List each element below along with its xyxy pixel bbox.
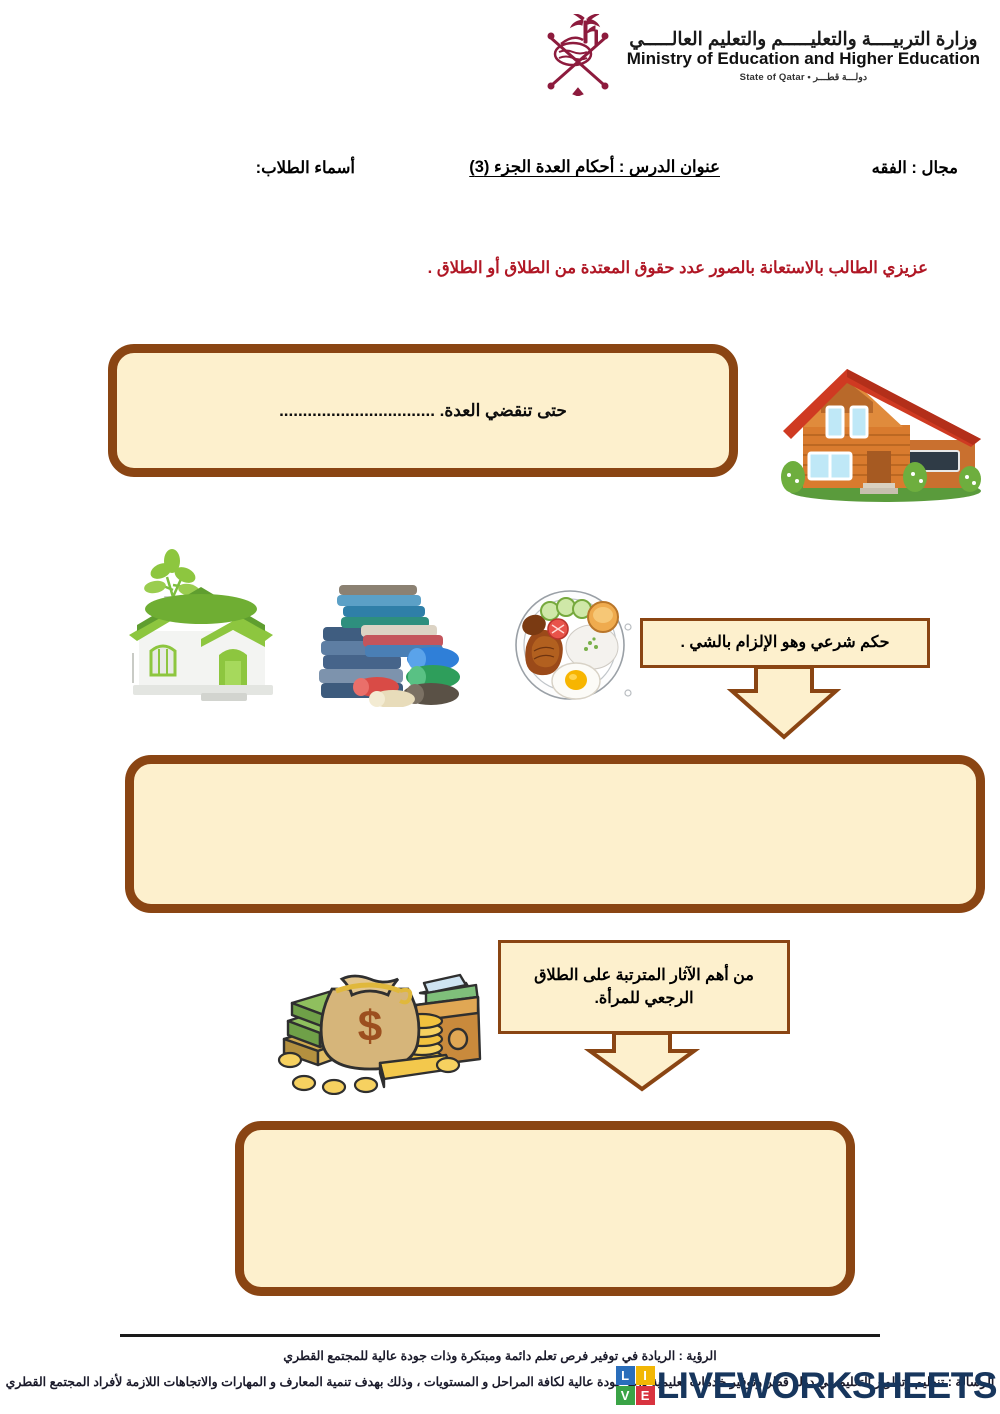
watermark-tile-l: L bbox=[616, 1366, 635, 1385]
food-plate-image bbox=[500, 585, 640, 705]
footer-vision-text: الرؤية : الريادة في توفير فرص تعلم دائمة… bbox=[0, 1348, 1000, 1363]
callout-effects-body: من أهم الآثار المترتبة على الطلاق الرجعي… bbox=[498, 940, 790, 1034]
watermark-wordmark: LIVEWORKSHEETS bbox=[657, 1367, 997, 1404]
eco-green-house-image bbox=[115, 535, 295, 710]
liveworksheets-watermark: LIVEWORKSHEETS L I V E bbox=[616, 1366, 997, 1405]
lesson-meta-row: مجال : الفقه عنوان الدرس : أحكام العدة ا… bbox=[0, 155, 1000, 187]
qatar-emblem-icon bbox=[543, 14, 613, 96]
footer-divider bbox=[120, 1334, 880, 1337]
answer-box-bottom[interactable] bbox=[235, 1121, 855, 1296]
callout-effects: من أهم الآثار المترتبة على الطلاق الرجعي… bbox=[498, 940, 790, 1090]
student-names-field: أسماء الطلاب: bbox=[256, 158, 355, 178]
watermark-tiles: L I V E bbox=[616, 1366, 655, 1405]
watermark-tile-i: I bbox=[636, 1366, 655, 1385]
watermark-tile-v: V bbox=[616, 1386, 635, 1405]
answer-box-middle[interactable] bbox=[125, 755, 985, 913]
lesson-title-field: عنوان الدرس : أحكام العدة الجزء (3) bbox=[469, 157, 720, 177]
down-arrow-icon bbox=[582, 1031, 702, 1093]
answer-box-top[interactable]: حتى تنقضي العدة. .......................… bbox=[108, 344, 738, 477]
subject-field: مجال : الفقه bbox=[872, 158, 958, 178]
ministry-name-english: Ministry of Education and Higher Educati… bbox=[627, 49, 980, 69]
instruction-text: عزيزي الطالب بالاستعانة بالصور عدد حقوق … bbox=[68, 258, 928, 278]
callout-definition: حكم شرعي وهو الإلزام بالشي . bbox=[640, 618, 930, 738]
wooden-house-image bbox=[775, 355, 990, 503]
state-label: دولـــة قطـــر • State of Qatar bbox=[627, 72, 980, 83]
ministry-wordmark: وزارة التربيــــة والتعليـــــم والتعليم… bbox=[627, 27, 980, 84]
svg-text:$: $ bbox=[358, 1002, 382, 1051]
ministry-header: وزارة التربيــــة والتعليـــــم والتعليم… bbox=[543, 14, 980, 96]
money-bag-image: $ bbox=[270, 935, 500, 1095]
callout-effects-text: من أهم الآثار المترتبة على الطلاق الرجعي… bbox=[501, 964, 787, 1010]
callout-definition-body: حكم شرعي وهو الإلزام بالشي . bbox=[640, 618, 930, 668]
callout-definition-text: حكم شرعي وهو الإلزام بالشي . bbox=[668, 631, 901, 654]
down-arrow-icon bbox=[726, 665, 842, 740]
folded-clothes-image bbox=[305, 575, 505, 707]
ministry-name-arabic: وزارة التربيــــة والتعليـــــم والتعليم… bbox=[627, 27, 980, 50]
answer-box-top-text: حتى تنقضي العدة. .......................… bbox=[117, 401, 729, 421]
watermark-tile-e: E bbox=[636, 1386, 655, 1405]
